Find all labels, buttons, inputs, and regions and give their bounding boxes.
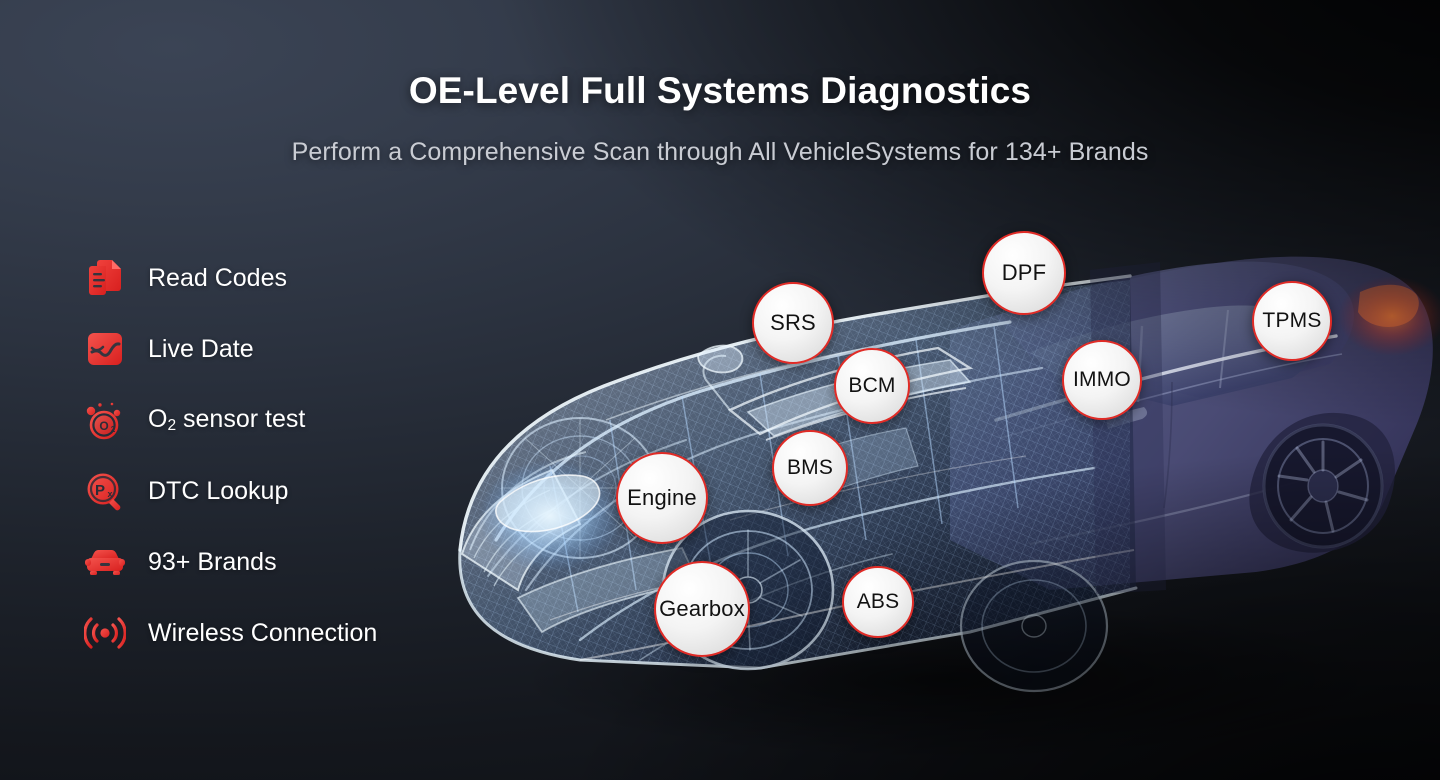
wireless-icon [82, 610, 128, 656]
system-bubble-immo[interactable]: IMMO [1062, 340, 1142, 420]
system-bubble-label: IMMO [1073, 368, 1131, 392]
feature-item-brands[interactable]: 93+ Brands [82, 539, 502, 585]
page-title: OE-Level Full Systems Diagnostics [0, 70, 1440, 112]
system-bubble-bms[interactable]: BMS [772, 430, 848, 506]
feature-label: Wireless Connection [148, 619, 377, 648]
system-bubble-label: DPF [1002, 260, 1047, 286]
feature-label: Live Date [148, 335, 254, 364]
feature-list: Read Codes Live Date [82, 255, 502, 656]
promo-banner: OE-Level Full Systems Diagnostics Perfor… [0, 0, 1440, 780]
system-bubble-engine[interactable]: Engine [616, 452, 708, 544]
feature-item-o2-sensor-test[interactable]: O 2 O2 sensor test [82, 397, 502, 443]
feature-label: 93+ Brands [148, 548, 277, 577]
feature-label: DTC Lookup [148, 477, 288, 506]
system-bubble-bcm[interactable]: BCM [834, 348, 910, 424]
svg-text:2: 2 [111, 425, 116, 434]
feature-item-dtc-lookup[interactable]: P x DTC Lookup [82, 468, 502, 514]
svg-text:P: P [95, 482, 105, 499]
feature-item-read-codes[interactable]: Read Codes [82, 255, 502, 301]
feature-label: Read Codes [148, 264, 287, 293]
system-bubble-label: TPMS [1262, 309, 1321, 333]
o2-sensor-icon: O 2 [82, 397, 128, 443]
feature-label: O2 sensor test [148, 405, 305, 435]
car-front-icon [82, 539, 128, 585]
system-bubble-label: Gearbox [659, 596, 745, 622]
system-bubble-abs[interactable]: ABS [842, 566, 914, 638]
documents-icon [82, 255, 128, 301]
system-bubble-srs[interactable]: SRS [752, 282, 834, 364]
system-bubble-label: SRS [770, 310, 816, 336]
system-bubble-label: Engine [627, 485, 697, 511]
svg-text:x: x [107, 489, 112, 499]
system-bubble-label: BMS [787, 456, 833, 480]
feature-item-wireless-connection[interactable]: Wireless Connection [82, 610, 502, 656]
system-bubble-tpms[interactable]: TPMS [1252, 281, 1332, 361]
live-data-icon [82, 326, 128, 372]
system-bubble-label: ABS [857, 590, 900, 614]
svg-text:O: O [99, 419, 108, 433]
vehicle-xray-illustration [430, 120, 1440, 780]
dtc-lookup-icon: P x [82, 468, 128, 514]
system-bubble-label: BCM [848, 374, 895, 398]
page-subtitle: Perform a Comprehensive Scan through All… [0, 138, 1440, 167]
system-bubble-dpf[interactable]: DPF [982, 231, 1066, 315]
feature-item-live-data[interactable]: Live Date [82, 326, 502, 372]
system-bubble-gearbox[interactable]: Gearbox [654, 561, 750, 657]
